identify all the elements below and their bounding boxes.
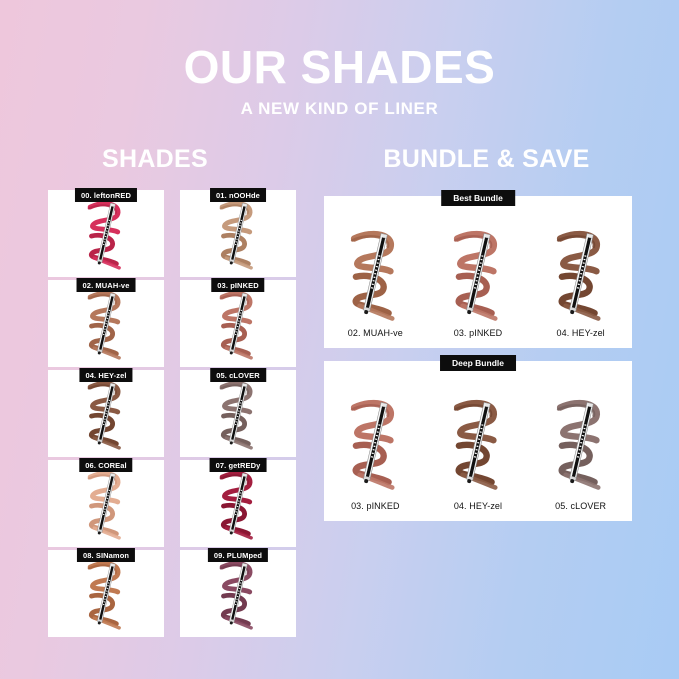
shade-cell[interactable]: 05. cLOVER xyxy=(180,370,296,457)
shade-cell[interactable]: 09. PLUMped xyxy=(180,550,296,637)
shades-column-header: SHADES xyxy=(0,145,300,174)
bundle-swatch-art xyxy=(430,222,526,326)
shade-label: 07. getREDy xyxy=(210,458,267,472)
bundle-column-header: BUNDLE & SAVE xyxy=(300,145,679,174)
liner-pencil-icon xyxy=(207,376,269,452)
bundle-card-best[interactable]: Best Bundle xyxy=(324,196,632,348)
shade-label: 04. HEY-zel xyxy=(79,368,132,382)
bundle-item-caption: 04. HEY-zel xyxy=(430,501,526,511)
liner-pencil-icon xyxy=(335,224,415,324)
shade-label: 02. MUAH-ve xyxy=(77,278,136,292)
liner-pencil-icon xyxy=(75,376,137,452)
shade-label: 08. SINamon xyxy=(77,548,135,562)
liner-pencil-icon xyxy=(207,556,269,632)
liner-pencil-icon xyxy=(75,466,137,542)
shades-grid: 00. leftonRED xyxy=(48,190,296,637)
bundle-item[interactable]: 04. HEY-zel xyxy=(533,222,629,348)
shade-cell[interactable]: 00. leftonRED xyxy=(48,190,164,277)
shade-cell[interactable]: 06. COREal xyxy=(48,460,164,547)
liner-pencil-icon xyxy=(75,286,137,362)
liner-pencil-icon xyxy=(541,393,621,493)
shade-cell[interactable]: 01. nOOHde xyxy=(180,190,296,277)
bundle-heading: BUNDLE & SAVE xyxy=(294,145,679,174)
bundle-swatch-art xyxy=(533,222,629,326)
bundle-item-caption: 04. HEY-zel xyxy=(533,328,629,338)
shade-swatch-art xyxy=(48,370,164,457)
shade-swatch-art xyxy=(48,280,164,367)
shade-swatch-art xyxy=(180,370,296,457)
bundle-badge: Best Bundle xyxy=(441,190,515,206)
page-header: OUR SHADES A NEW KIND OF LINER xyxy=(0,0,679,119)
shade-swatch-art xyxy=(180,460,296,547)
shade-swatch-art xyxy=(180,280,296,367)
bundle-item[interactable]: 02. MUAH-ve xyxy=(327,222,423,348)
liner-pencil-icon xyxy=(207,196,269,272)
shade-label: 09. PLUMped xyxy=(208,548,268,562)
shade-label: 05. cLOVER xyxy=(210,368,266,382)
liner-pencil-icon xyxy=(335,393,415,493)
liner-pencil-icon xyxy=(207,286,269,362)
bundle-item[interactable]: 04. HEY-zel xyxy=(430,387,526,521)
shade-cell[interactable]: 02. MUAH-ve xyxy=(48,280,164,367)
shade-swatch-art xyxy=(180,550,296,637)
bundle-swatch-art xyxy=(327,222,423,326)
bundle-item-caption: 02. MUAH-ve xyxy=(327,328,423,338)
bundle-item-list: 03. pINKED xyxy=(324,361,632,521)
liner-pencil-icon xyxy=(207,466,269,542)
liner-pencil-icon xyxy=(75,196,137,272)
section-headings: SHADES BUNDLE & SAVE xyxy=(0,145,679,174)
liner-pencil-icon xyxy=(438,224,518,324)
bundle-card-deep[interactable]: Deep Bundle xyxy=(324,361,632,521)
shade-swatch-art xyxy=(180,190,296,277)
shade-label: 01. nOOHde xyxy=(210,188,266,202)
shade-swatch-art xyxy=(48,460,164,547)
bundle-item[interactable]: 03. pINKED xyxy=(430,222,526,348)
bundle-item-caption: 05. cLOVER xyxy=(533,501,629,511)
shade-cell[interactable]: 07. getREDy xyxy=(180,460,296,547)
page-subtitle: A NEW KIND OF LINER xyxy=(0,99,679,119)
bundle-swatch-art xyxy=(533,387,629,499)
bundle-item[interactable]: 03. pINKED xyxy=(327,387,423,521)
shades-heading: SHADES xyxy=(10,145,300,174)
bundle-swatch-art xyxy=(327,387,423,499)
bundle-badge: Deep Bundle xyxy=(440,355,516,371)
bundle-item-caption: 03. pINKED xyxy=(430,328,526,338)
liner-pencil-icon xyxy=(75,556,137,632)
shade-swatch-art xyxy=(48,190,164,277)
shade-label: 00. leftonRED xyxy=(75,188,137,202)
bundle-item-list: 02. MUAH-ve xyxy=(324,196,632,348)
shade-label: 03. pINKED xyxy=(211,278,264,292)
bundle-item-caption: 03. pINKED xyxy=(327,501,423,511)
shade-cell[interactable]: 08. SINamon xyxy=(48,550,164,637)
bundle-swatch-art xyxy=(430,387,526,499)
shade-cell[interactable]: 03. pINKED xyxy=(180,280,296,367)
page-title: OUR SHADES xyxy=(0,44,679,90)
shade-swatch-art xyxy=(48,550,164,637)
liner-pencil-icon xyxy=(541,224,621,324)
liner-pencil-icon xyxy=(438,393,518,493)
shade-label: 06. COREal xyxy=(79,458,132,472)
bundle-item[interactable]: 05. cLOVER xyxy=(533,387,629,521)
shade-cell[interactable]: 04. HEY-zel xyxy=(48,370,164,457)
